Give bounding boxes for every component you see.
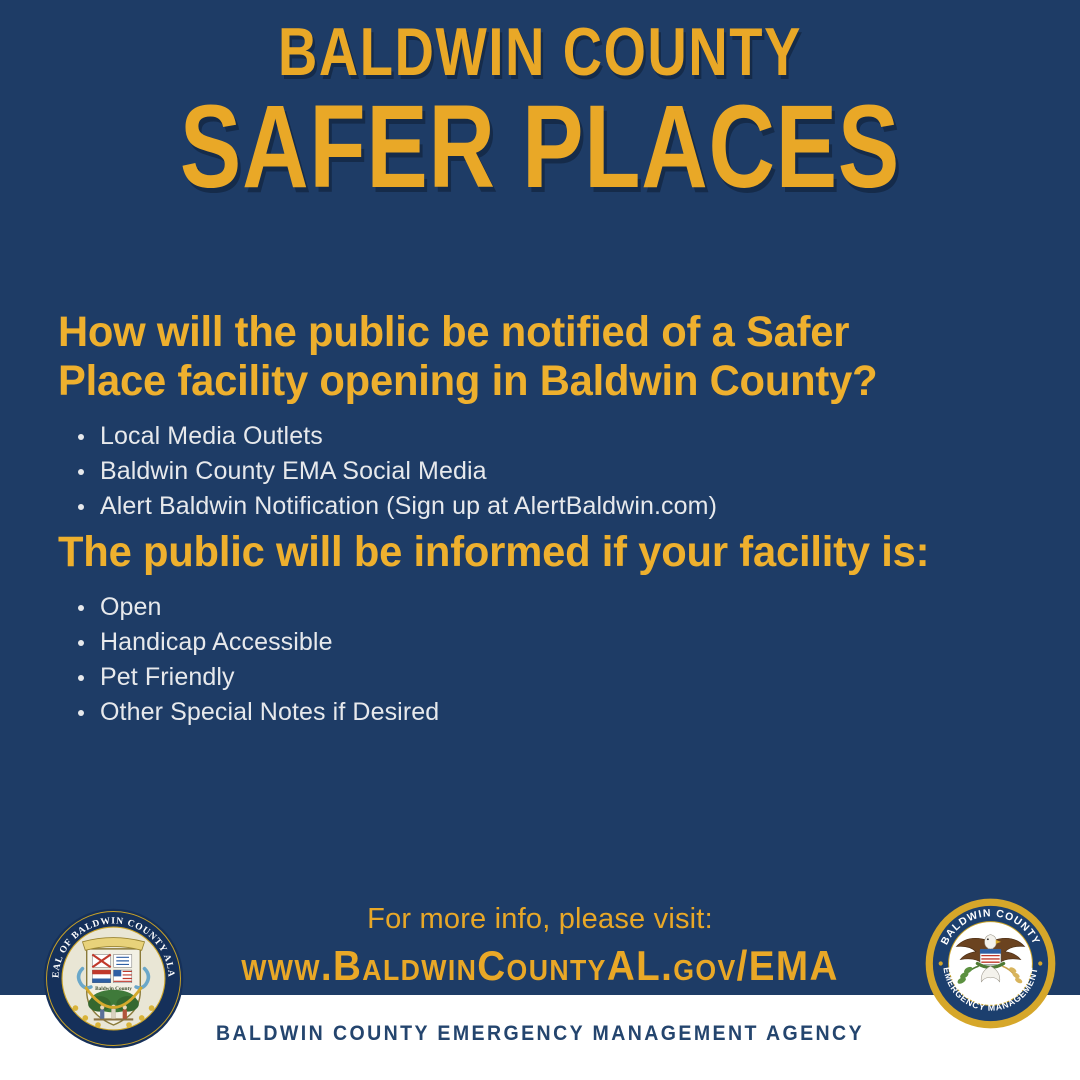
facility-attribute-list: Open Handicap Accessible Pet Friendly Ot…: [58, 593, 1018, 726]
list-item: Other Special Notes if Desired: [72, 698, 1018, 726]
heading-line: Place facility opening in Baldwin County…: [58, 357, 989, 406]
list-item: Baldwin County EMA Social Media: [72, 457, 1018, 485]
notification-channel-list: Local Media Outlets Baldwin County EMA S…: [58, 422, 1018, 520]
section-notification-heading: How will the public be notified of a Saf…: [58, 308, 989, 406]
poster-canvas: BALDWIN COUNTY SAFER PLACES How will the…: [0, 0, 1080, 1080]
list-item: Handicap Accessible: [72, 628, 1018, 656]
title-line-safer-places: SAFER PLACES: [119, 92, 961, 202]
heading-line: The public will be informed if your faci…: [58, 528, 989, 577]
list-item: Alert Baldwin Notification (Sign up at A…: [72, 492, 1018, 520]
list-item: Pet Friendly: [72, 663, 1018, 691]
footer-website-url[interactable]: www.BaldwinCountyAL.gov/EMA: [43, 942, 1037, 990]
baldwin-county-seal-icon: THE SEAL OF BALDWIN COUNTY ALABAMA 1809: [43, 908, 184, 1049]
section-facility-heading: The public will be informed if your faci…: [58, 528, 989, 577]
section-facility-info: The public will be informed if your faci…: [58, 528, 1018, 733]
list-item: Local Media Outlets: [72, 422, 1018, 450]
section-notification: How will the public be notified of a Saf…: [58, 308, 1018, 527]
heading-line: How will the public be notified of a Saf…: [58, 308, 989, 357]
list-item: Open: [72, 593, 1018, 621]
baldwin-county-ema-seal-icon: BALDWIN COUNTY EMERGENCY MANAGEMENT: [925, 898, 1056, 1029]
poster-title: BALDWIN COUNTY SAFER PLACES: [0, 18, 1080, 202]
title-line-county: BALDWIN COUNTY: [108, 18, 972, 86]
footer-agency-name: BALDWIN COUNTY EMERGENCY MANAGEMENT AGEN…: [38, 1022, 1042, 1046]
